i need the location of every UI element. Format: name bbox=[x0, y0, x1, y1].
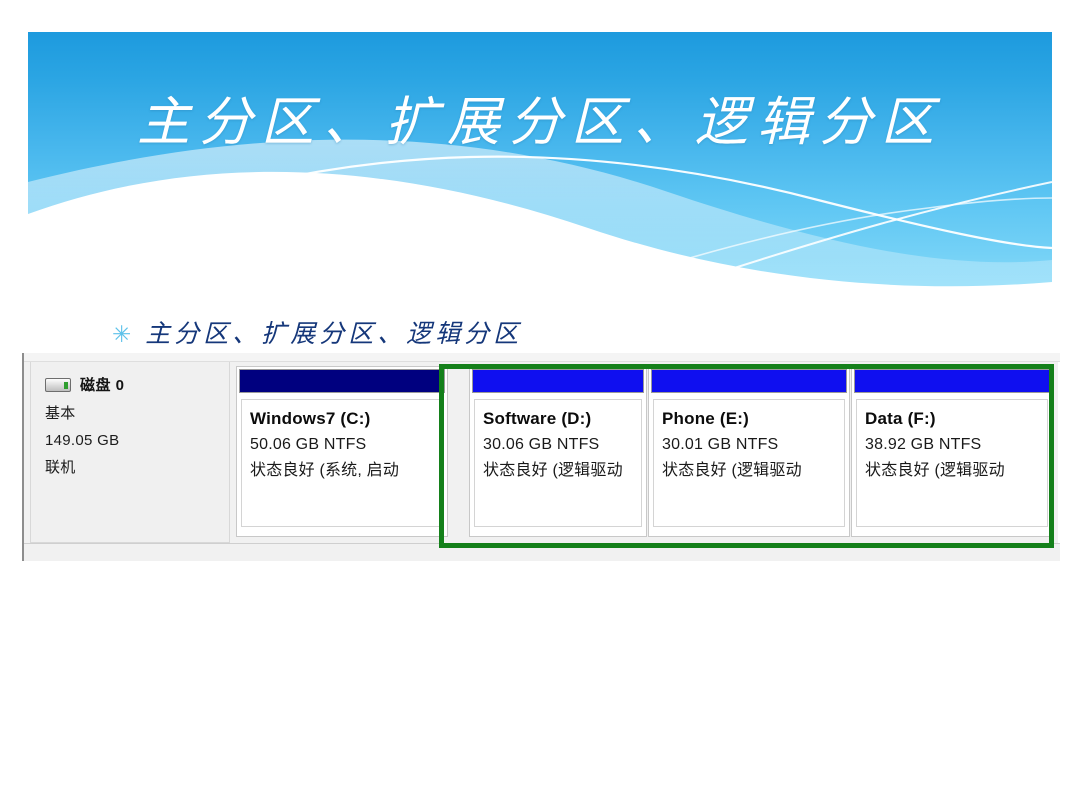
partition-body-f: Data (F:) 38.92 GB NTFS 状态良好 (逻辑驱动 bbox=[856, 399, 1048, 527]
partition-body-d: Software (D:) 30.06 GB NTFS 状态良好 (逻辑驱动 bbox=[474, 399, 642, 527]
partition-bar-c bbox=[239, 369, 445, 393]
disk-drive-icon bbox=[45, 378, 71, 392]
partition-size: 30.01 GB NTFS bbox=[662, 432, 844, 458]
disk-type: 基本 bbox=[45, 400, 229, 427]
partition-cell-e[interactable]: Phone (E:) 30.01 GB NTFS 状态良好 (逻辑驱动 bbox=[648, 366, 850, 537]
partition-bar-d bbox=[472, 369, 644, 393]
partition-status: 状态良好 (逻辑驱动 bbox=[483, 458, 641, 484]
screenshot-top-strip bbox=[24, 353, 1060, 362]
partition-status: 状态良好 (逻辑驱动 bbox=[662, 458, 844, 484]
partition-cell-c[interactable]: Windows7 (C:) 50.06 GB NTFS 状态良好 (系统, 启动 bbox=[236, 366, 448, 537]
partition-bar-e bbox=[651, 369, 847, 393]
disk-management-screenshot: 磁盘 0 基本 149.05 GB 联机 Windows7 (C:) 50.06… bbox=[22, 353, 1058, 561]
partition-name: Software (D:) bbox=[483, 406, 641, 432]
partition-name: Data (F:) bbox=[865, 406, 1047, 432]
partition-size: 30.06 GB NTFS bbox=[483, 432, 641, 458]
partition-status: 状态良好 (系统, 启动 bbox=[250, 458, 442, 484]
partition-size: 50.06 GB NTFS bbox=[250, 432, 442, 458]
bullet-line: ✳ 主分区、扩展分区、逻辑分区 bbox=[112, 320, 522, 348]
bullet-text: 主分区、扩展分区、逻辑分区 bbox=[145, 320, 522, 348]
partition-name: Phone (E:) bbox=[662, 406, 844, 432]
disk-label: 磁盘 0 bbox=[80, 374, 125, 395]
partition-name: Windows7 (C:) bbox=[250, 406, 442, 432]
partition-cell-d[interactable]: Software (D:) 30.06 GB NTFS 状态良好 (逻辑驱动 bbox=[469, 366, 647, 537]
partition-status: 状态良好 (逻辑驱动 bbox=[865, 458, 1047, 484]
partition-strip: Windows7 (C:) 50.06 GB NTFS 状态良好 (系统, 启动… bbox=[236, 362, 1056, 543]
disk-header: 磁盘 0 bbox=[45, 374, 229, 395]
banner-wave-decoration bbox=[28, 32, 1052, 290]
asterisk-icon: ✳ bbox=[112, 324, 131, 347]
page-title: 主分区、扩展分区、逻辑分区 bbox=[28, 92, 1052, 154]
disk-row: 磁盘 0 基本 149.05 GB 联机 Windows7 (C:) 50.06… bbox=[24, 362, 1060, 543]
partition-body-c: Windows7 (C:) 50.06 GB NTFS 状态良好 (系统, 启动 bbox=[241, 399, 443, 527]
disk-info-panel[interactable]: 磁盘 0 基本 149.05 GB 联机 bbox=[30, 362, 230, 543]
screenshot-bottom-strip bbox=[24, 543, 1060, 561]
partition-body-e: Phone (E:) 30.01 GB NTFS 状态良好 (逻辑驱动 bbox=[653, 399, 845, 527]
disk-capacity: 149.05 GB bbox=[45, 427, 229, 454]
disk-status: 联机 bbox=[45, 454, 229, 481]
partition-bar-f bbox=[854, 369, 1050, 393]
partition-size: 38.92 GB NTFS bbox=[865, 432, 1047, 458]
slide-title-banner: 主分区、扩展分区、逻辑分区 bbox=[28, 32, 1052, 290]
partition-cell-f[interactable]: Data (F:) 38.92 GB NTFS 状态良好 (逻辑驱动 bbox=[851, 366, 1053, 537]
